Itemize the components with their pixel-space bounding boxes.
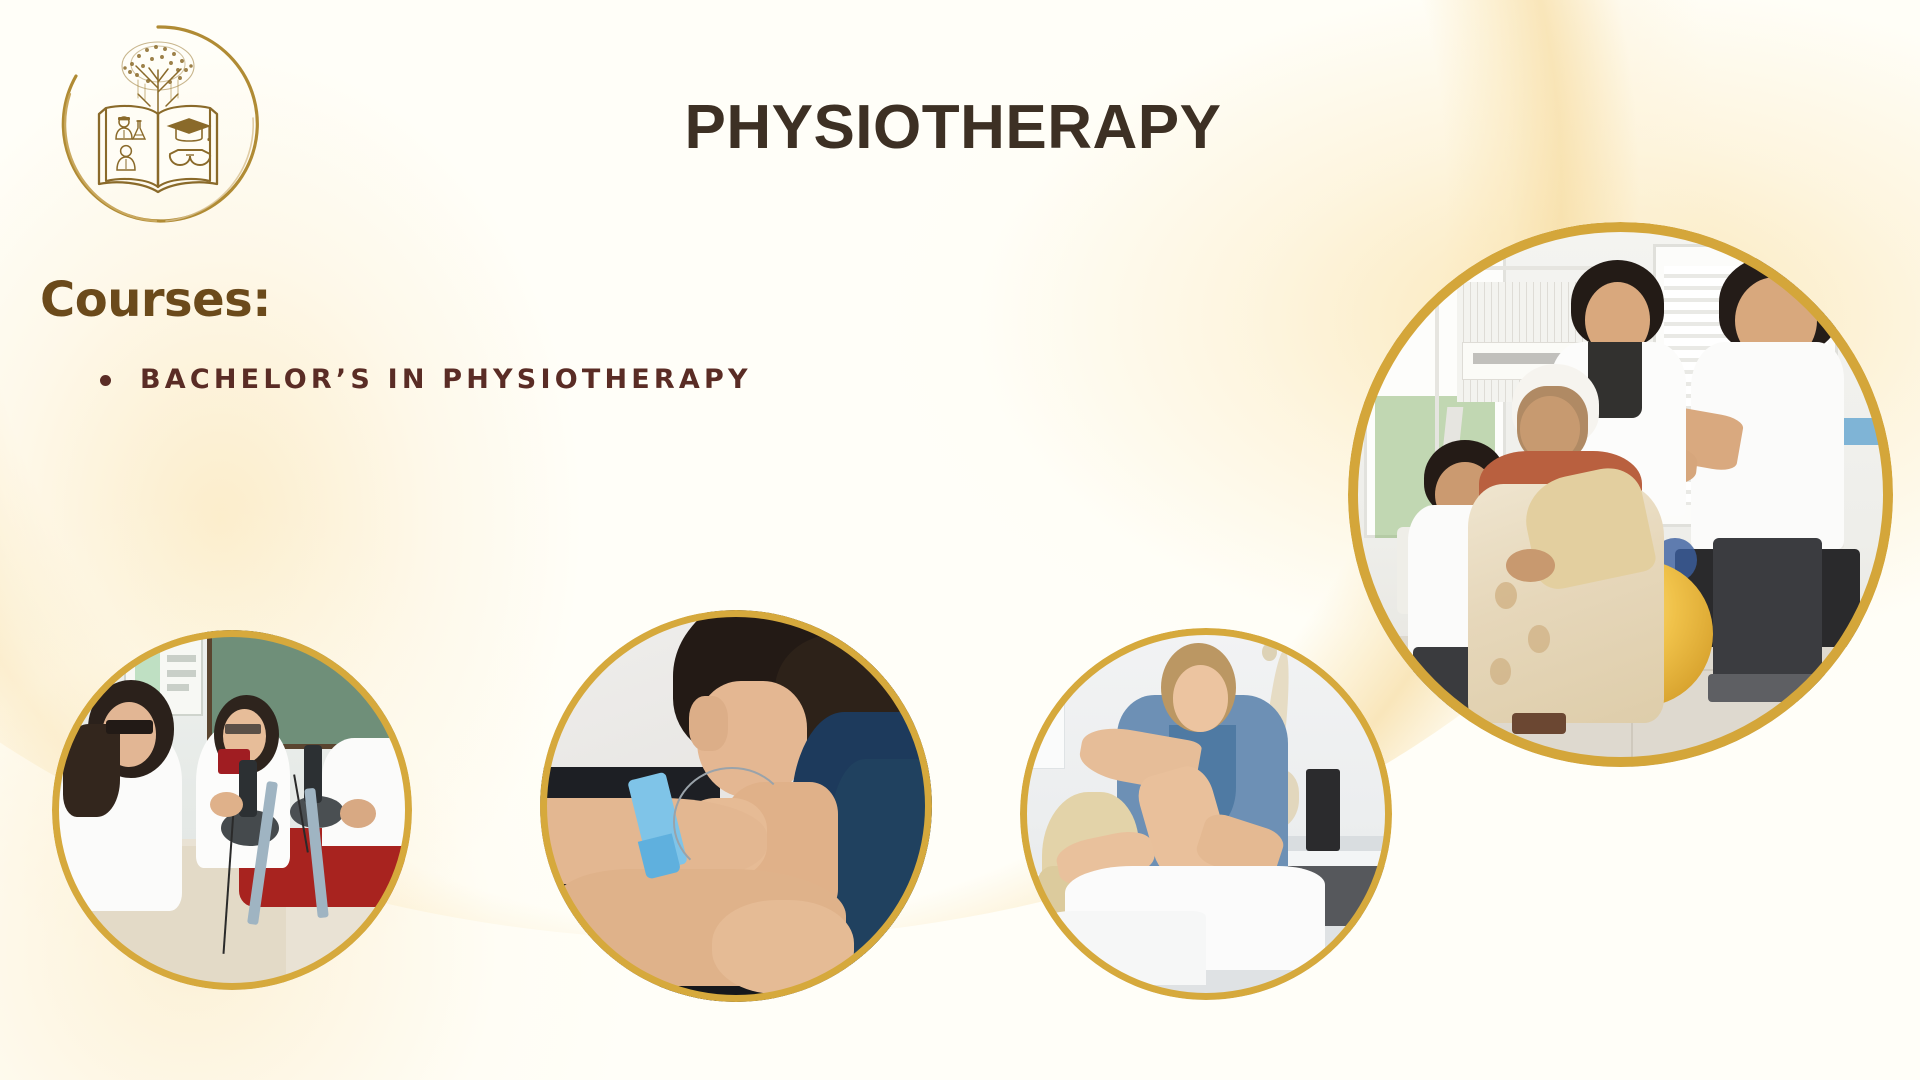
page-title: PHYSIOTHERAPY xyxy=(0,92,1913,163)
photo-clinic-balance-training xyxy=(1348,222,1893,767)
courses-section: Courses: BACHELOR’S IN PHYSIOTHERAPY xyxy=(40,272,752,395)
course-label: BACHELOR’S IN PHYSIOTHERAPY xyxy=(140,364,752,395)
list-item: BACHELOR’S IN PHYSIOTHERAPY xyxy=(98,364,752,395)
photo-1-image xyxy=(52,630,412,990)
courses-heading: Courses: xyxy=(40,272,752,328)
bullet-dot-icon xyxy=(100,375,111,386)
photo-3-image xyxy=(1020,628,1392,1000)
photo-ultrasound-therapy xyxy=(540,610,932,1002)
photo-4-image xyxy=(1348,222,1893,767)
photo-2-image xyxy=(540,610,932,1002)
courses-list: BACHELOR’S IN PHYSIOTHERAPY xyxy=(98,364,752,395)
photo-manual-therapy xyxy=(1020,628,1392,1000)
photo-electrotherapy-session xyxy=(52,630,412,990)
